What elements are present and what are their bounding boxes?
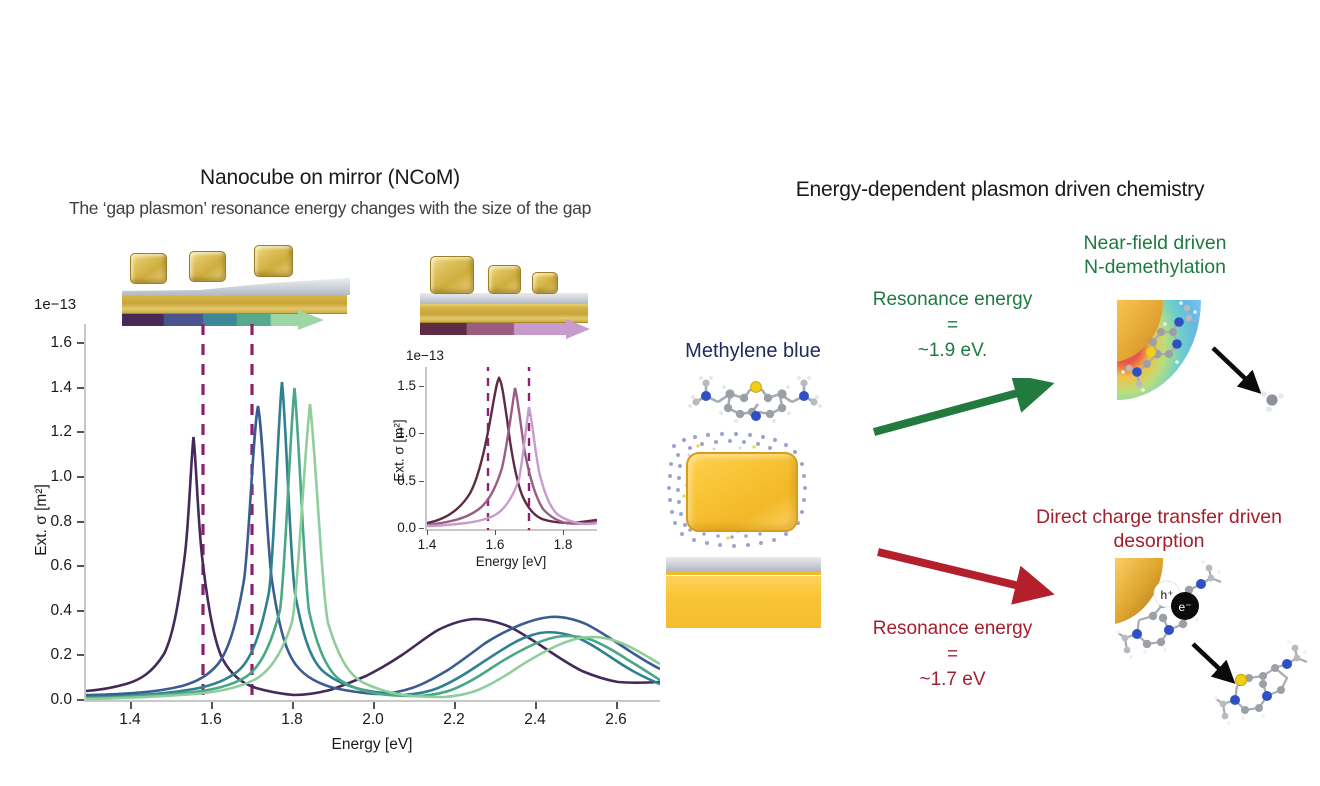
nanocube-small bbox=[532, 272, 558, 294]
main-xtick-4: 2.2 bbox=[434, 711, 474, 729]
main-xtick-1: 1.6 bbox=[191, 711, 231, 729]
nitrogen-nearfield-3 bbox=[1174, 317, 1184, 327]
nitrogen-desorbed-2 bbox=[1230, 695, 1240, 705]
main-xtick-0: 1.4 bbox=[110, 711, 150, 729]
spacer-layer bbox=[666, 557, 821, 571]
nanocube-3 bbox=[254, 245, 293, 277]
nitrogen-ct-1 bbox=[1196, 579, 1206, 589]
electron-label: e⁻ bbox=[1178, 600, 1191, 614]
nitrogen-nearfield-2 bbox=[1132, 367, 1142, 377]
upper-pathway-title-line1: Near-field driven bbox=[1000, 232, 1310, 256]
lower-caption-line1: Resonance energy bbox=[845, 616, 1060, 642]
right-panel-title: Energy-dependent plasmon driven chemistr… bbox=[690, 178, 1310, 202]
main-ytick-0: 0.0 bbox=[28, 691, 72, 709]
upper-caption-line1: Resonance energy bbox=[845, 287, 1060, 313]
nanocube-2 bbox=[189, 251, 226, 282]
main-xtick-6: 2.6 bbox=[596, 711, 636, 729]
sulfur-atom-nearfield bbox=[1146, 347, 1156, 357]
main-xtick-5: 2.4 bbox=[515, 711, 555, 729]
desorbed-methylene-blue bbox=[1214, 640, 1307, 725]
main-ytick-1: 0.2 bbox=[28, 646, 72, 664]
inset-xtick-0: 1.4 bbox=[410, 537, 444, 552]
methyl-fragment bbox=[1261, 391, 1284, 412]
main-x-axis-label: Energy [eV] bbox=[84, 736, 660, 754]
methylene-blue-label: Methylene blue bbox=[658, 340, 848, 363]
nitrogen-nearfield-1 bbox=[1172, 339, 1182, 349]
main-ytick-8: 1.6 bbox=[28, 334, 72, 352]
left-panel-subtitle: The ‘gap plasmon’ resonance energy chang… bbox=[0, 198, 660, 219]
near-field-demethylation-image bbox=[1117, 300, 1302, 425]
inset-spectrum-chart: 1e−13 Ext. σ [m²] 1.4 1.6 1.8 0.0 0.5 1.… bbox=[370, 348, 600, 563]
main-y-offset-label: 1e−13 bbox=[34, 296, 76, 313]
main-ytick-4: 0.8 bbox=[28, 513, 72, 531]
nitrogen-ct-2 bbox=[1132, 629, 1142, 639]
coated-nanocube-on-mirror bbox=[662, 430, 822, 600]
inset-ytick-0: 0.0 bbox=[378, 520, 416, 535]
inset-curve-1 bbox=[427, 378, 597, 523]
sulfur-atom-desorbed bbox=[1235, 674, 1246, 685]
inset-xtick-1: 1.6 bbox=[478, 537, 512, 552]
main-xtick-2: 1.8 bbox=[272, 711, 312, 729]
methylene-blue-molecule bbox=[680, 372, 830, 424]
upper-caption-line3: ~1.9 eV. bbox=[845, 338, 1060, 364]
nanocube-medium bbox=[488, 265, 521, 294]
upper-resonance-caption: Resonance energy = ~1.9 eV. bbox=[845, 287, 1060, 364]
inset-ytick-3: 1.5 bbox=[378, 378, 416, 393]
main-ytick-5: 1.0 bbox=[28, 468, 72, 486]
upper-pathway-title: Near-field driven N-demethylation bbox=[1000, 232, 1310, 280]
sulfur-atom bbox=[751, 382, 762, 393]
inset-xtick-2: 1.8 bbox=[546, 537, 580, 552]
nitrogen-desorbed-bridge bbox=[1262, 691, 1272, 701]
green-pathway-arrow bbox=[868, 378, 1054, 440]
inset-x-axis-label: Energy [eV] bbox=[425, 554, 597, 569]
main-ytick-7: 1.4 bbox=[28, 379, 72, 397]
nitrogen-right bbox=[799, 391, 809, 401]
lower-pathway-title-line1: Direct charge transfer driven bbox=[1000, 506, 1318, 530]
gold-nanocube bbox=[686, 452, 798, 532]
main-ytick-2: 0.4 bbox=[28, 602, 72, 620]
hole-label: h⁺ bbox=[1160, 588, 1173, 602]
red-pathway-arrow bbox=[872, 544, 1058, 606]
thin-gold-film bbox=[666, 571, 821, 575]
inset-ytick-2: 1.0 bbox=[378, 425, 416, 440]
upper-pathway-title-line2: N-demethylation bbox=[1000, 256, 1310, 280]
charge-transfer-desorption-image: h⁺ e⁻ bbox=[1115, 558, 1315, 753]
lower-caption-line3: ~1.7 eV bbox=[845, 667, 1060, 693]
inset-curve-3 bbox=[427, 407, 597, 526]
main-ytick-6: 1.2 bbox=[28, 423, 72, 441]
left-panel-title: Nanocube on mirror (NCoM) bbox=[0, 166, 660, 190]
inset-ytick-1: 0.5 bbox=[378, 473, 416, 488]
nanocube-large bbox=[430, 256, 474, 294]
gold-mirror-block bbox=[666, 576, 821, 628]
lower-caption-line2: = bbox=[845, 642, 1060, 668]
nanocube-1 bbox=[130, 253, 167, 284]
inset-plot-area bbox=[427, 367, 597, 530]
nitrogen-desorbed-1 bbox=[1282, 659, 1292, 669]
main-ytick-3: 0.6 bbox=[28, 557, 72, 575]
upper-caption-line2: = bbox=[845, 313, 1060, 339]
inset-y-offset-label: 1e−13 bbox=[406, 348, 444, 363]
nitrogen-left bbox=[701, 391, 711, 401]
lower-resonance-caption: Resonance energy = ~1.7 eV bbox=[845, 616, 1060, 693]
nitrogen-bridge bbox=[751, 411, 761, 421]
main-xtick-3: 2.0 bbox=[353, 711, 393, 729]
nitrogen-ct-bridge bbox=[1164, 625, 1174, 635]
